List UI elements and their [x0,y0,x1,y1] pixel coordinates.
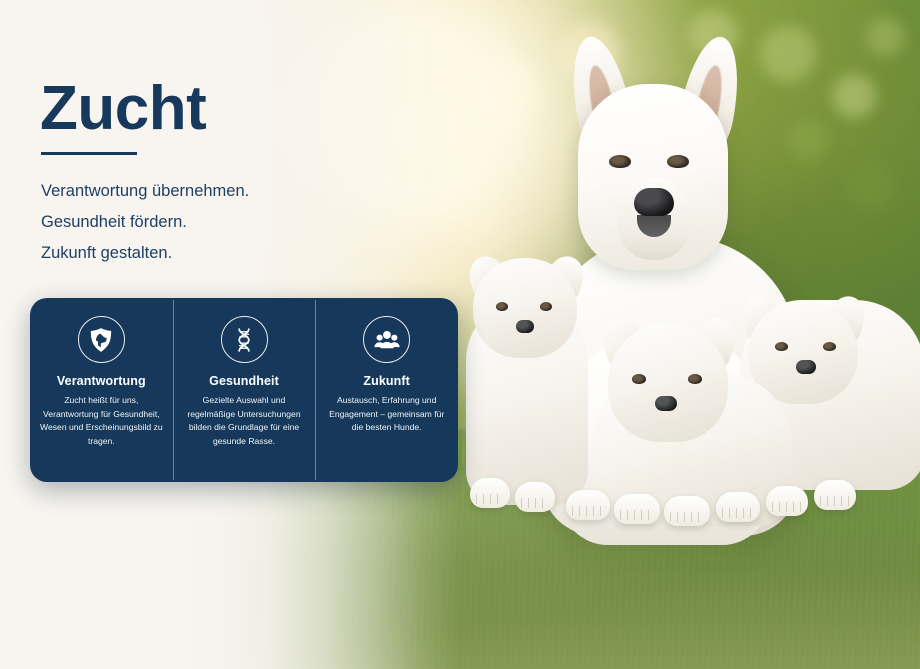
info-card: Verantwortung Zucht heißt für uns, Veran… [30,298,458,482]
people-group-icon [363,316,410,363]
info-column-title: Zukunft [363,374,410,388]
page-title: Zucht [40,78,206,140]
info-column-title: Verantwortung [57,374,146,388]
info-column-text: Austausch, Erfahrung und Engagement – ge… [323,394,450,435]
info-column-zukunft[interactable]: Zukunft Austausch, Erfahrung und Engagem… [315,298,458,482]
info-column-verantwortung[interactable]: Verantwortung Zucht heißt für uns, Veran… [30,298,173,482]
info-column-text: Gezielte Auswahl und regelmäßige Untersu… [181,394,308,448]
title-underline-rule [41,152,137,155]
hero-banner: Zucht Verantwortung übernehmen. Gesundhe… [0,0,920,669]
info-column-text: Zucht heißt für uns, Verantwortung für G… [38,394,165,448]
shield-dog-icon [78,316,125,363]
subtitle-line-2: Gesundheit fördern. [41,207,371,238]
subtitle-line-3: Zukunft gestalten. [41,238,371,269]
info-column-title: Gesundheit [209,374,279,388]
hero-content: Zucht Verantwortung übernehmen. Gesundhe… [0,0,920,669]
hero-subtitle: Verantwortung übernehmen. Gesundheit för… [41,176,371,269]
info-column-gesundheit[interactable]: Gesundheit Gezielte Auswahl und regelmäß… [173,298,316,482]
dna-helix-icon [221,316,268,363]
subtitle-line-1: Verantwortung übernehmen. [41,176,371,207]
